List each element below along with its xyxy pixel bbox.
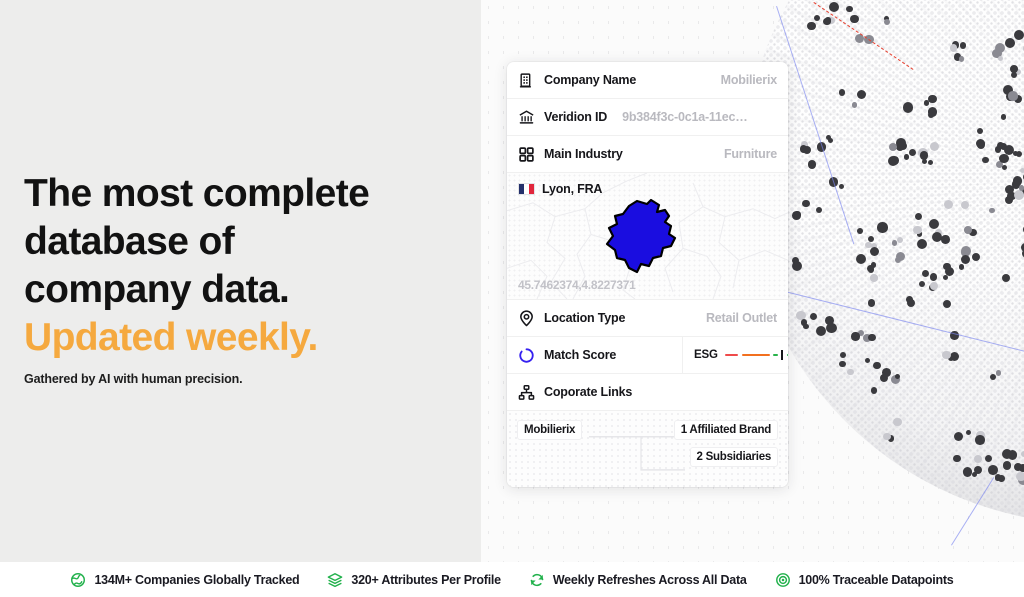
card-row-location-type[interactable]: Location Type Retail Outlet [507,300,788,337]
company-data-card[interactable]: Company Name Mobilierix Veridion ID 9b38… [507,62,788,487]
card-row-company-name[interactable]: Company Name Mobilierix [507,62,788,99]
card-row-label: Main Industry [544,147,623,161]
location-map[interactable]: Lyon, FRA 45.7462374,4.8227371 [507,173,788,300]
left-content-panel: The most complete database of company da… [0,0,481,562]
card-row-veridion-id[interactable]: Veridion ID 9b384f3c-0c1a-11ec… [507,99,788,136]
globe-icon [70,572,86,588]
bank-icon [518,109,535,126]
card-row-main-industry[interactable]: Main Industry Furniture [507,136,788,173]
headline-line-3: company data. [24,266,474,314]
map-coordinates: 45.7462374,4.8227371 [518,278,635,292]
esg-gauge [725,350,788,360]
graph-node-subsidiaries[interactable]: 2 Subsidiaries [690,447,778,467]
card-row-value: Mobilierix [721,73,777,87]
card-row-label: Location Type [544,311,625,325]
gauge-segment-orange [742,354,770,356]
grid-icon [518,146,535,163]
footer-stat-companies: 134M+ Companies Globally Tracked [70,572,299,588]
card-row-value: Retail Outlet [706,311,777,325]
esg-gauge-group[interactable]: ESG [682,337,788,373]
headline-line-1: The most complete [24,170,474,218]
card-row-label: Veridion ID [544,110,607,124]
graph-node-root[interactable]: Mobilierix [517,420,582,440]
footer-stat-text: Weekly Refreshes Across All Data [553,573,747,587]
region-polygon [603,198,685,276]
card-row-label: Company Name [544,73,636,87]
footer-stat-text: 320+ Attributes Per Profile [351,573,500,587]
footer-stat-traceable: 100% Traceable Datapoints [775,572,954,588]
city-name: Lyon, FRA [542,182,602,196]
gauge-marker [781,350,783,360]
page-title: The most complete database of company da… [24,170,474,362]
gauge-segment-green-1 [773,354,778,356]
hero-banner: The most complete database of company da… [0,0,1024,597]
footer-stats-bar: 134M+ Companies Globally Tracked 320+ At… [0,562,1024,597]
loading-circle-icon [518,347,535,364]
footer-stat-text: 134M+ Companies Globally Tracked [94,573,299,587]
footer-stat-text: 100% Traceable Datapoints [799,573,954,587]
card-row-value: 9b384f3c-0c1a-11ec… [622,110,747,124]
org-chart-icon [518,384,535,401]
gauge-segment-green-2 [787,354,788,356]
card-row-label: Match Score [544,348,616,362]
city-label-group: Lyon, FRA [518,182,602,196]
graph-node-affiliated-brand[interactable]: 1 Affiliated Brand [674,420,778,440]
card-row-value: Furniture [724,147,777,161]
esg-label: ESG [694,349,718,361]
france-flag-icon [518,183,535,195]
headline-accent-line: Updated weekly. [24,314,474,362]
card-row-match-score[interactable]: Match Score ESG [507,337,788,374]
footer-stat-refreshes: Weekly Refreshes Across All Data [529,572,747,588]
map-pin-icon [518,310,535,327]
card-row-label: Coporate Links [544,385,632,399]
headline-line-2: database of [24,218,474,266]
subtitle: Gathered by AI with human precision. [24,372,242,386]
refresh-icon [529,572,545,588]
corporate-links-graph[interactable]: Mobilierix 1 Affiliated Brand 2 Subsidia… [507,411,788,487]
layers-icon [327,572,343,588]
building-icon [518,72,535,89]
footer-stat-attributes: 320+ Attributes Per Profile [327,572,500,588]
target-icon [775,572,791,588]
gauge-segment-red [725,354,738,356]
card-row-corporate-links[interactable]: Coporate Links [507,374,788,411]
